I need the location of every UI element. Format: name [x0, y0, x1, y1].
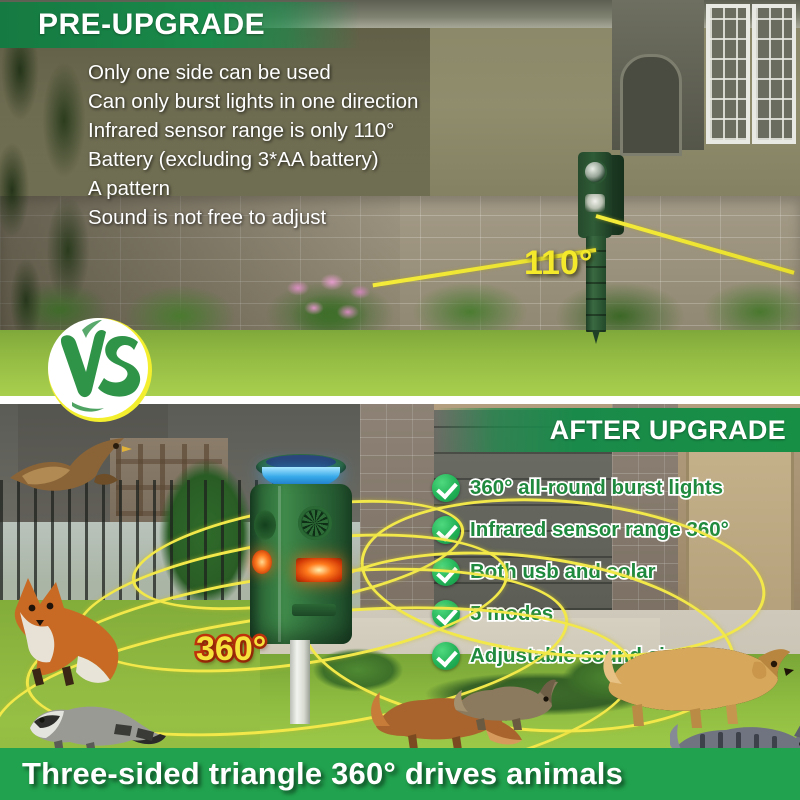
pink-flower-bush [278, 272, 382, 338]
speaker-grille [298, 506, 332, 540]
arched-door [620, 54, 682, 156]
drawback-item: A pattern [88, 174, 608, 203]
hawk-illustration [4, 432, 134, 512]
raccoon-illustration [20, 684, 178, 756]
rabbit-illustration [450, 666, 568, 732]
new-repeller-device [240, 454, 360, 724]
house-window-right [752, 4, 796, 144]
house-window-left [706, 4, 750, 144]
drawback-item: Only one side can be used [88, 58, 608, 87]
after-upgrade-title: AFTER UPGRADE [550, 415, 786, 446]
device-body-edge [278, 486, 281, 642]
drawback-item: Can only burst lights in one direction [88, 87, 608, 116]
device-vent [292, 604, 336, 616]
speaker-grille-side [254, 510, 276, 540]
angle-label-360: 360° [196, 630, 266, 669]
bottom-tagline-banner: Three-sided triangle 360° drives animals [0, 748, 800, 800]
product-comparison-infographic: 110° PRE-UPGRADE Only one side can be us… [0, 0, 800, 800]
after-upgrade-banner: AFTER UPGRADE [436, 408, 800, 452]
fox-illustration [6, 564, 134, 694]
check-icon [432, 474, 460, 502]
feature-label: 360° all-round burst lights [470, 476, 723, 500]
drawback-item: Battery (excluding 3*AA battery) [88, 145, 608, 174]
drawback-item: Sound is not free to adjust [88, 203, 608, 232]
old-device-stake-tip [592, 330, 600, 344]
infrared-flash-lamp-side [252, 550, 272, 574]
infrared-flash-lamp [296, 558, 342, 582]
drawback-list: Only one side can be used Can only burst… [88, 58, 608, 232]
pre-upgrade-title: PRE-UPGRADE [38, 8, 265, 42]
drawback-item: Infrared sensor range is only 110° [88, 116, 608, 145]
mounting-post [290, 640, 310, 724]
vs-badge: VS [42, 316, 158, 424]
after-upgrade-panel: AFTER UPGRADE 360° all-round burst light… [0, 404, 800, 800]
angle-label-110: 110° [524, 244, 592, 283]
pre-upgrade-banner: PRE-UPGRADE [0, 2, 360, 48]
bottom-tagline-text: Three-sided triangle 360° drives animals [22, 756, 623, 792]
